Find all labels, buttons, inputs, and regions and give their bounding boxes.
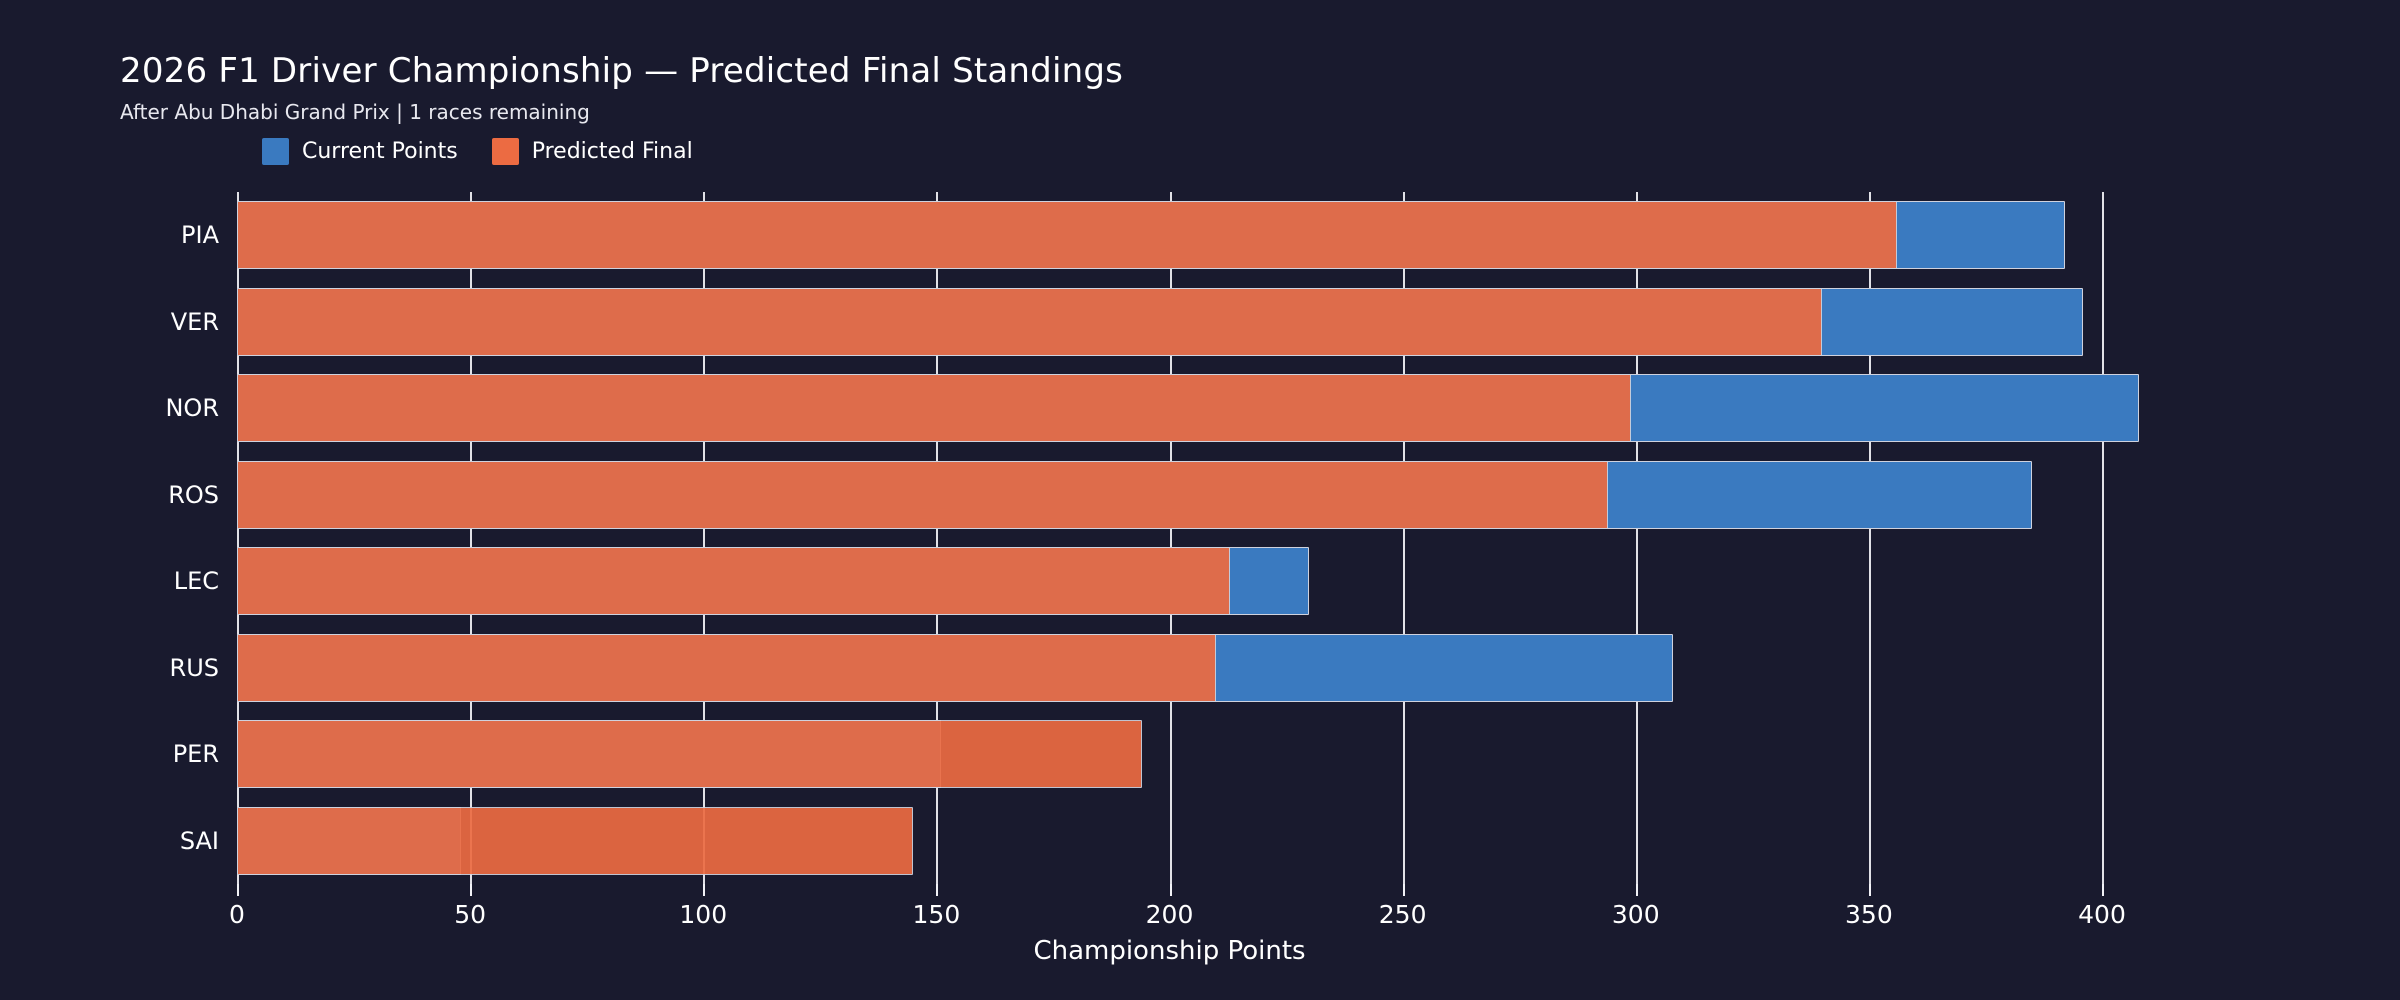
bar-row: VER (237, 288, 2102, 356)
x-tick-label-300: 300 (1612, 900, 1660, 929)
bar-row: PIA (237, 201, 2102, 269)
x-tick-mark-100 (703, 884, 705, 896)
y-tick-label-sai: SAI (180, 807, 219, 875)
legend-label-current-points: Current Points (302, 139, 458, 164)
chart-header: 2026 F1 Driver Championship — Predicted … (120, 52, 2120, 124)
legend-swatch-predicted-final (492, 138, 519, 165)
x-tick-mark-300 (1636, 884, 1638, 896)
y-tick-label-pia: PIA (181, 201, 219, 269)
bar-rows: PIAVERNORROSLECRUSPERSAI (237, 192, 2102, 884)
bar-predicted-ver[interactable] (237, 288, 1822, 356)
y-tick-label-per: PER (173, 720, 219, 788)
x-tick-mark-400 (2102, 884, 2104, 896)
chart-legend: Current PointsPredicted Final (262, 138, 693, 165)
legend-item-predicted-final[interactable]: Predicted Final (492, 138, 693, 165)
bar-row: RUS (237, 634, 2102, 702)
x-axis-label: Championship Points (237, 936, 2102, 966)
y-tick-label-ros: ROS (168, 461, 219, 529)
x-tick-label-250: 250 (1379, 900, 1427, 929)
x-tick-label-150: 150 (913, 900, 961, 929)
bar-predicted-lec[interactable] (237, 547, 1230, 615)
x-tick-mark-0 (237, 884, 239, 896)
x-axis: 050100150200250300350400 (237, 884, 2102, 944)
y-tick-label-nor: NOR (165, 374, 219, 442)
x-tick-mark-150 (936, 884, 938, 896)
x-tick-label-0: 0 (229, 900, 245, 929)
gridline-400 (2102, 192, 2104, 884)
plot-area: PIAVERNORROSLECRUSPERSAI (237, 192, 2102, 884)
y-tick-label-lec: LEC (174, 547, 219, 615)
bar-predicted-per[interactable] (237, 720, 1142, 788)
chart-subtitle: After Abu Dhabi Grand Prix | 1 races rem… (120, 100, 2120, 124)
bar-row: LEC (237, 547, 2102, 615)
x-tick-label-200: 200 (1146, 900, 1194, 929)
legend-swatch-current-points (262, 138, 289, 165)
bar-predicted-rus[interactable] (237, 634, 1216, 702)
chart-figure: 2026 F1 Driver Championship — Predicted … (0, 0, 2400, 1000)
bar-row: SAI (237, 807, 2102, 875)
x-tick-mark-200 (1170, 884, 1172, 896)
bar-row: NOR (237, 374, 2102, 442)
y-tick-label-ver: VER (171, 288, 219, 356)
x-tick-mark-350 (1869, 884, 1871, 896)
x-tick-label-100: 100 (679, 900, 727, 929)
page-title: 2026 F1 Driver Championship — Predicted … (120, 52, 2120, 91)
bar-predicted-sai[interactable] (237, 807, 913, 875)
x-tick-mark-250 (1403, 884, 1405, 896)
bar-row: ROS (237, 461, 2102, 529)
x-tick-label-350: 350 (1845, 900, 1893, 929)
bar-row: PER (237, 720, 2102, 788)
x-tick-label-50: 50 (454, 900, 486, 929)
bar-predicted-ros[interactable] (237, 461, 1608, 529)
y-tick-label-rus: RUS (170, 634, 219, 702)
x-tick-label-400: 400 (2078, 900, 2126, 929)
bar-predicted-nor[interactable] (237, 374, 1631, 442)
legend-label-predicted-final: Predicted Final (532, 139, 693, 164)
legend-item-current-points[interactable]: Current Points (262, 138, 458, 165)
x-tick-mark-50 (470, 884, 472, 896)
bar-predicted-pia[interactable] (237, 201, 1897, 269)
